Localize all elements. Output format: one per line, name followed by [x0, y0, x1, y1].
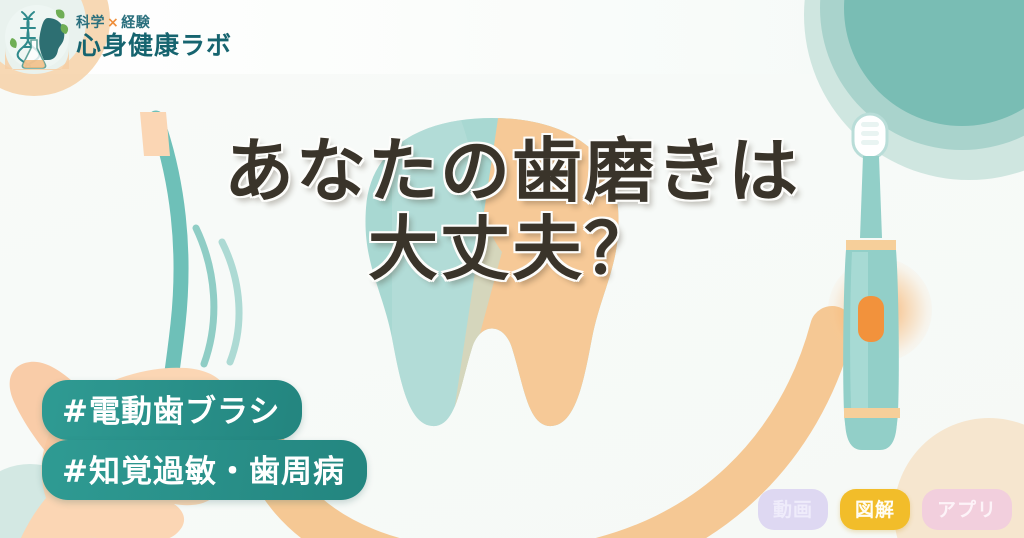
badge-app[interactable]: アプリ	[922, 489, 1012, 530]
hashtag-pill-electric-toothbrush[interactable]: #電動歯ブラシ	[42, 380, 302, 440]
molar-tooth-illustration-icon	[352, 112, 632, 434]
badge-figure[interactable]: 図解	[840, 489, 910, 530]
content-type-badges: 動画 図解 アプリ	[758, 489, 1012, 530]
logo-kicker: 科学×経験	[76, 16, 232, 30]
logo-kicker-right: 経験	[121, 15, 150, 31]
hashtag-list: #電動歯ブラシ #知覚過敏・歯周病	[42, 380, 367, 500]
logo-title: 心身健康ラボ	[76, 33, 232, 58]
site-logo[interactable]: 科学×経験 心身健康ラボ	[0, 0, 232, 70]
dna-helix-head-flask-icon	[4, 4, 70, 70]
hashtag-pill-sensitivity-periodontitis[interactable]: #知覚過敏・歯周病	[42, 440, 367, 500]
electric-toothbrush-illustration-icon	[816, 112, 926, 464]
poster-canvas: 科学×経験 心身健康ラボ あなたの歯磨きは 大丈夫？ #電動歯ブラシ #知覚過敏…	[0, 0, 1024, 538]
logo-text-block: 科学×経験 心身健康ラボ	[76, 16, 232, 58]
logo-kicker-separator-icon: ×	[107, 15, 119, 31]
logo-kicker-left: 科学	[76, 15, 105, 31]
badge-video[interactable]: 動画	[758, 489, 828, 530]
